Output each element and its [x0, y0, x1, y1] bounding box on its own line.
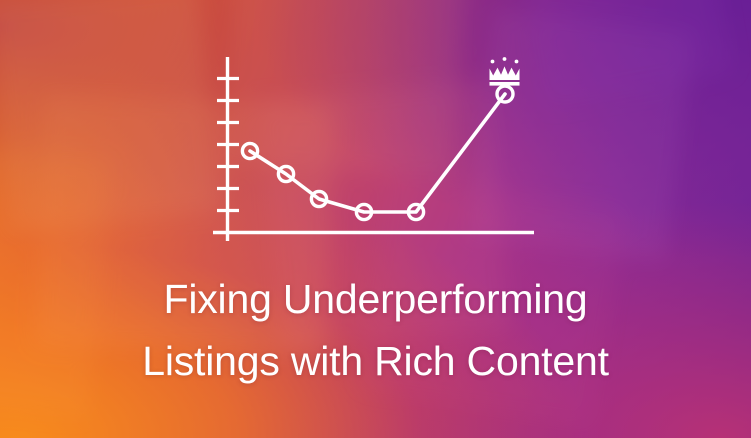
chart-series-line [250, 94, 505, 212]
promo-card: Fixing Underperforming Listings with Ric… [0, 0, 751, 438]
page-title-line-1: Fixing Underperforming [0, 268, 751, 330]
crown-icon [490, 57, 520, 86]
line-chart [0, 0, 751, 270]
chart-data-points [242, 86, 513, 220]
page-title-line-2: Listings with Rich Content [0, 330, 751, 392]
page-title: Fixing Underperforming Listings with Ric… [0, 268, 751, 392]
